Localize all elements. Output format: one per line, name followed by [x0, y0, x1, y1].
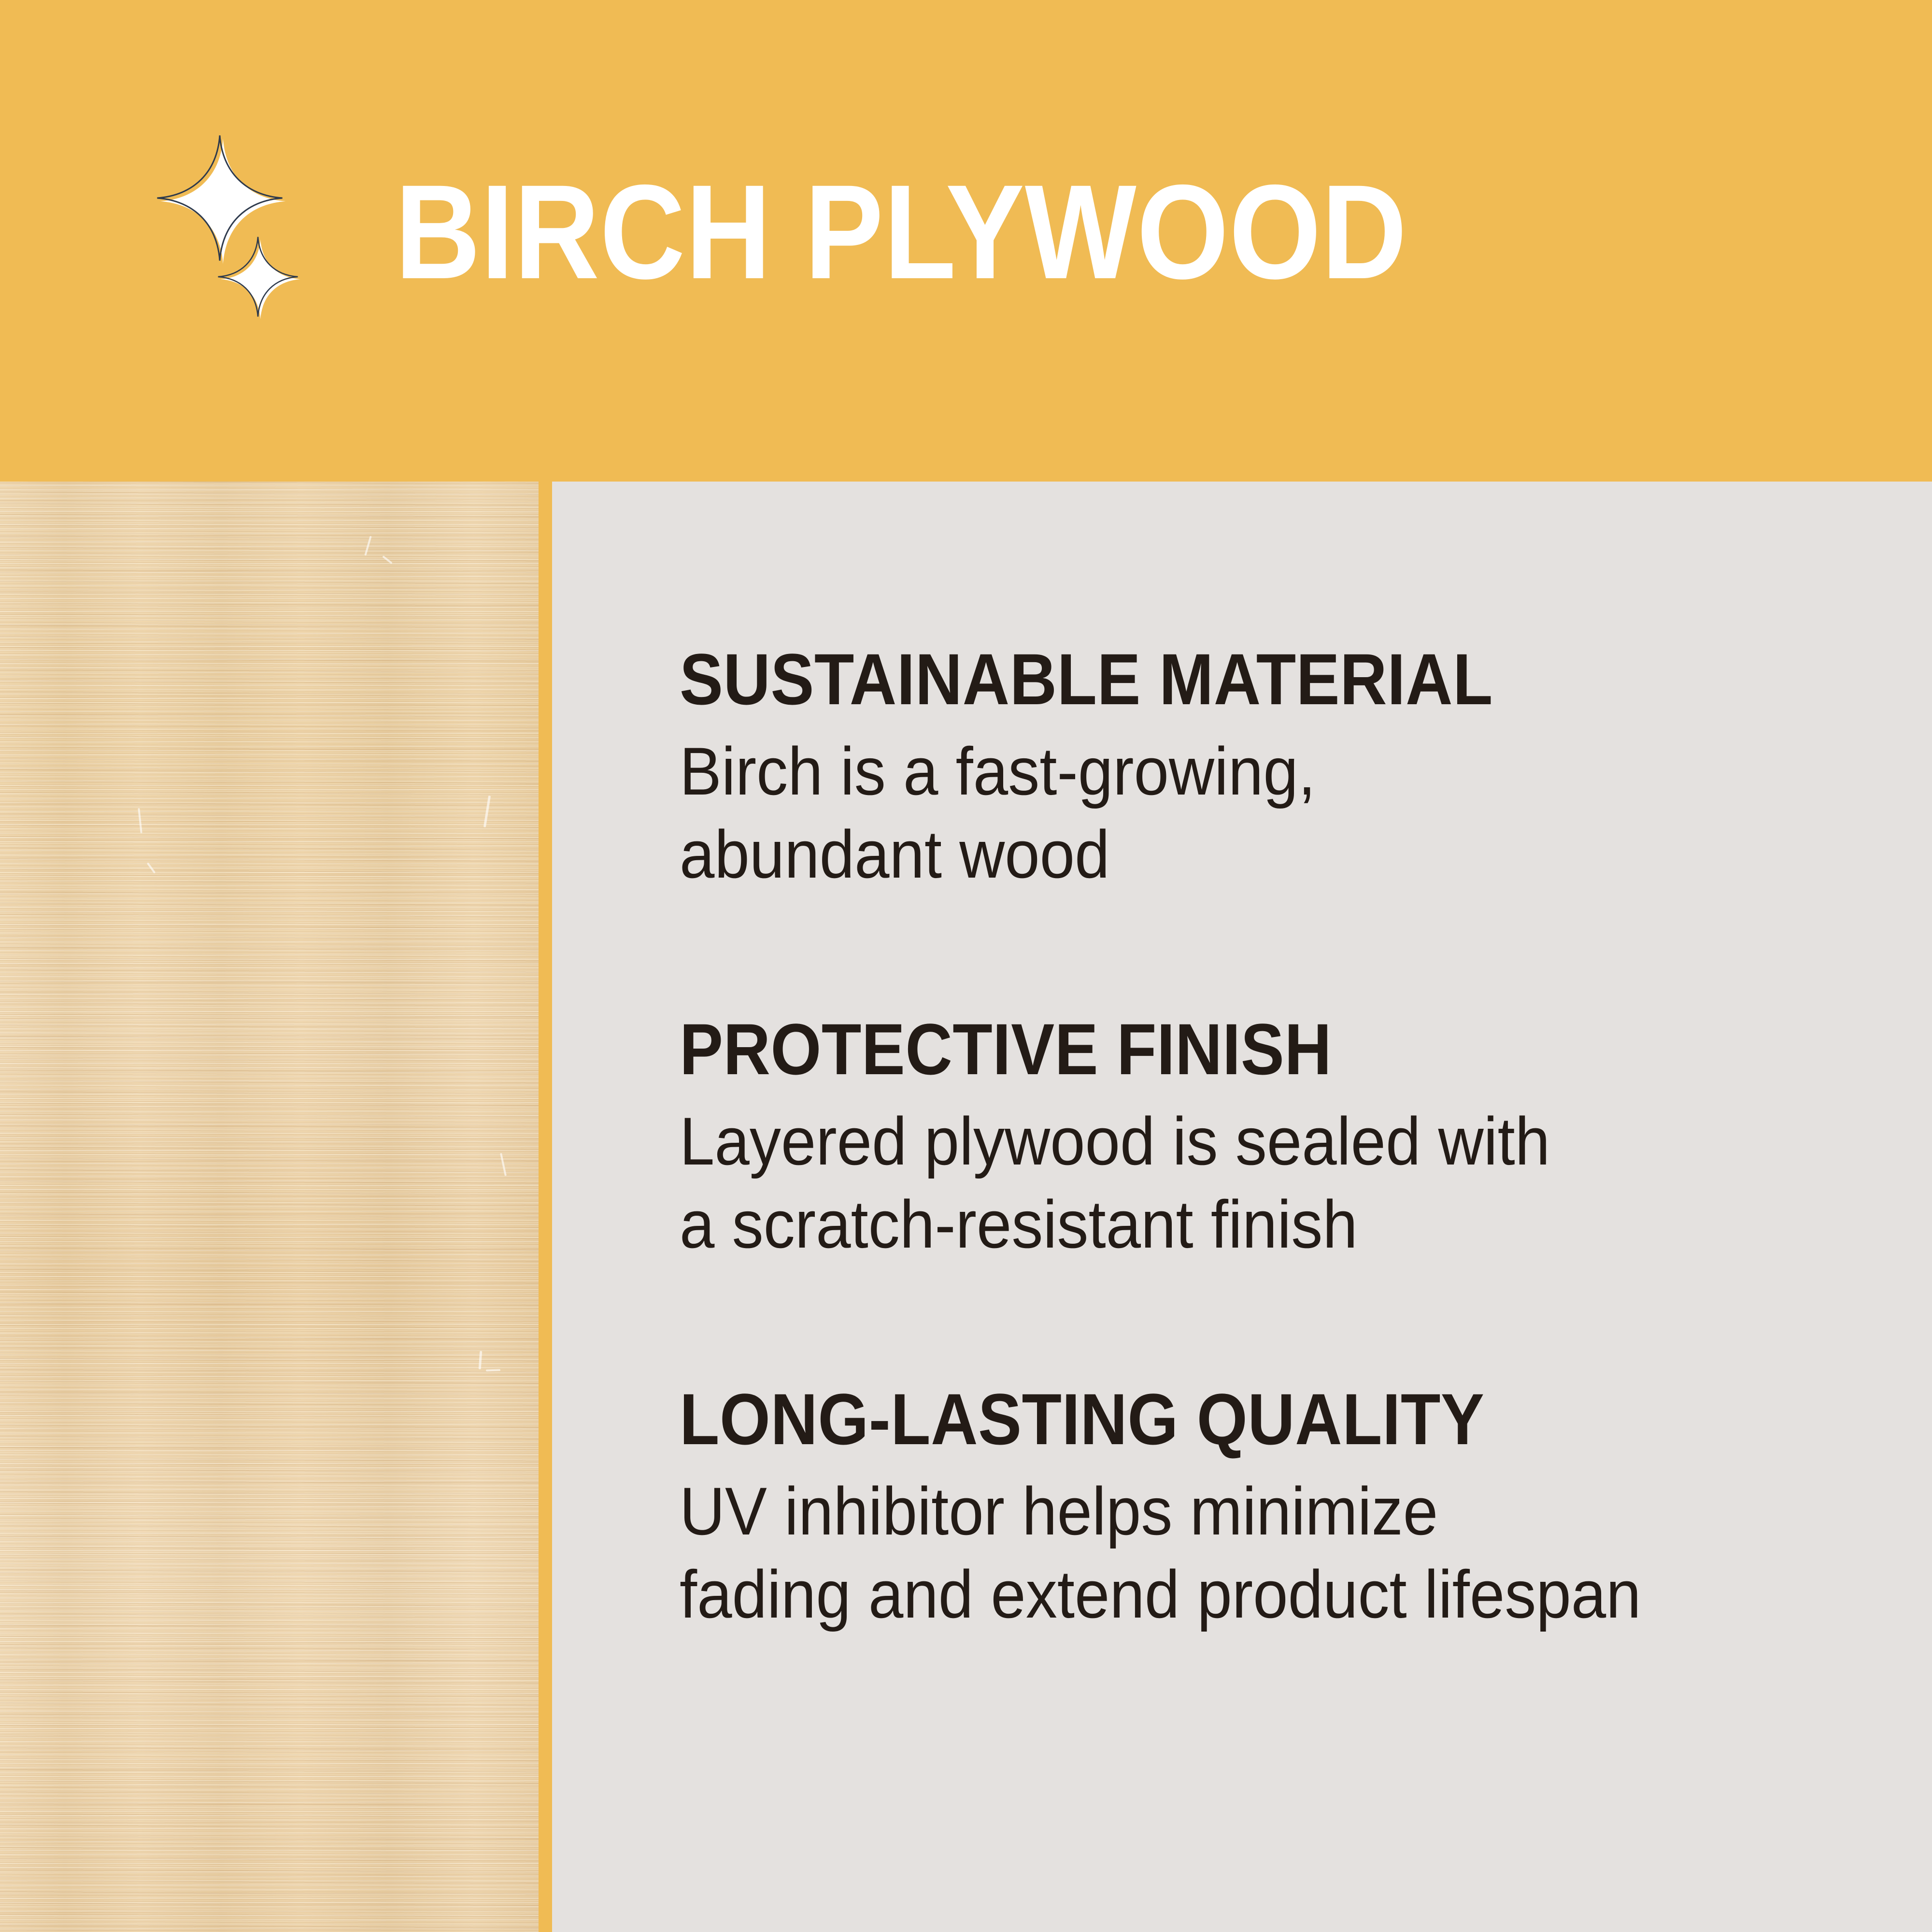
feature-heading: SUSTAINABLE MATERIAL [680, 641, 1766, 717]
feature-body: UV inhibitor helps minimize fading and e… [680, 1470, 1883, 1636]
feature-body-line: Layered plywood is sealed with [680, 1100, 1883, 1183]
feature-block-protective-finish: PROTECTIVE FINISH Layered plywood is sea… [680, 1011, 1887, 1266]
content-panel: SUSTAINABLE MATERIAL Birch is a fast-gro… [552, 482, 1932, 1932]
feature-body-line: UV inhibitor helps minimize [680, 1470, 1883, 1553]
wood-texture-swatch [0, 482, 539, 1932]
feature-block-sustainable-material: SUSTAINABLE MATERIAL Birch is a fast-gro… [680, 641, 1887, 896]
feature-body-line: a scratch-resistant finish [680, 1183, 1883, 1266]
page-title: BIRCH PLYWOOD [395, 159, 1500, 304]
wood-grain-overlay [0, 482, 539, 1932]
feature-body-line: Birch is a fast-growing, [680, 730, 1883, 813]
feature-block-long-lasting-quality: LONG-LASTING QUALITY UV inhibitor helps … [680, 1381, 1887, 1636]
header-banner: BIRCH PLYWOOD [0, 0, 1932, 482]
feature-body: Layered plywood is sealed with a scratch… [680, 1100, 1883, 1266]
feature-body-line: fading and extend product lifespan [680, 1553, 1883, 1636]
feature-heading: PROTECTIVE FINISH [680, 1011, 1766, 1087]
vertical-divider [539, 482, 552, 1932]
feature-body: Birch is a fast-growing, abundant wood [680, 730, 1883, 896]
sparkle-star-small-icon [216, 235, 299, 318]
features-list: SUSTAINABLE MATERIAL Birch is a fast-gro… [680, 641, 1887, 1636]
infographic-root: BIRCH PLYWOOD SUSTAINABLE MATERIAL Birch… [0, 0, 1932, 1932]
feature-heading: LONG-LASTING QUALITY [680, 1381, 1766, 1457]
sparkle-cluster [155, 133, 314, 336]
feature-body-line: abundant wood [680, 813, 1883, 896]
